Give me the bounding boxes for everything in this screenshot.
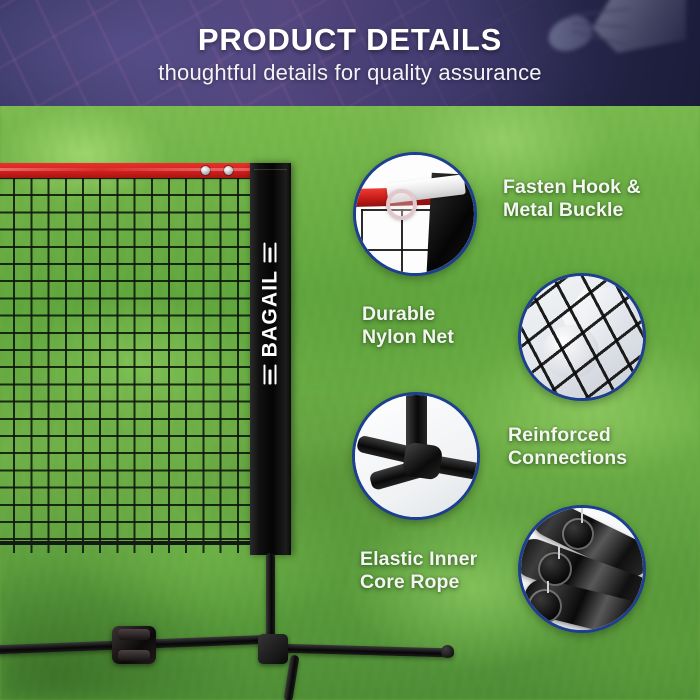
page-title: PRODUCT DETAILS [0,22,700,58]
net-bottom-rope [0,541,254,545]
net-post: BAGAIL [250,163,291,555]
callout-durable-nylon-net[interactable] [518,273,646,401]
callout-image-fasten-hook [356,155,474,273]
callout-fasten-hook-metal-buckle[interactable] [353,152,477,276]
pole-clip-connector [112,626,156,664]
callout-image-connector-joint [355,395,477,517]
grommet [201,166,210,175]
base-t-joint [258,634,288,664]
net-assembly [0,163,254,553]
brand-bars-icon [263,364,277,384]
brand-bars-icon [263,243,277,263]
pole-end-cap [441,645,454,658]
grommet [224,166,233,175]
callout-label-reinforced-connections: Reinforced Connections [508,424,627,470]
page-subtitle: thoughtful details for quality assurance [0,60,700,86]
brand-name: BAGAIL [258,270,282,358]
callout-label-durable-nylon-net: Durable Nylon Net [362,303,454,349]
callout-image-pipes [521,508,643,630]
callout-label-fasten-hook-metal-buckle: Fasten Hook & Metal Buckle [503,176,641,222]
net-top-band [0,163,254,178]
product-details-infographic: PRODUCT DETAILS thoughtful details for q… [0,0,700,700]
header-banner: PRODUCT DETAILS thoughtful details for q… [0,0,700,106]
net-mesh [0,177,254,553]
callout-reinforced-connections[interactable] [352,392,480,520]
callout-image-nylon-net [521,276,643,398]
callout-label-elastic-inner-core-rope: Elastic Inner Core Rope [360,548,477,594]
brand-logo: BAGAIL [250,224,291,404]
callout-elastic-inner-core-rope[interactable] [518,505,646,633]
